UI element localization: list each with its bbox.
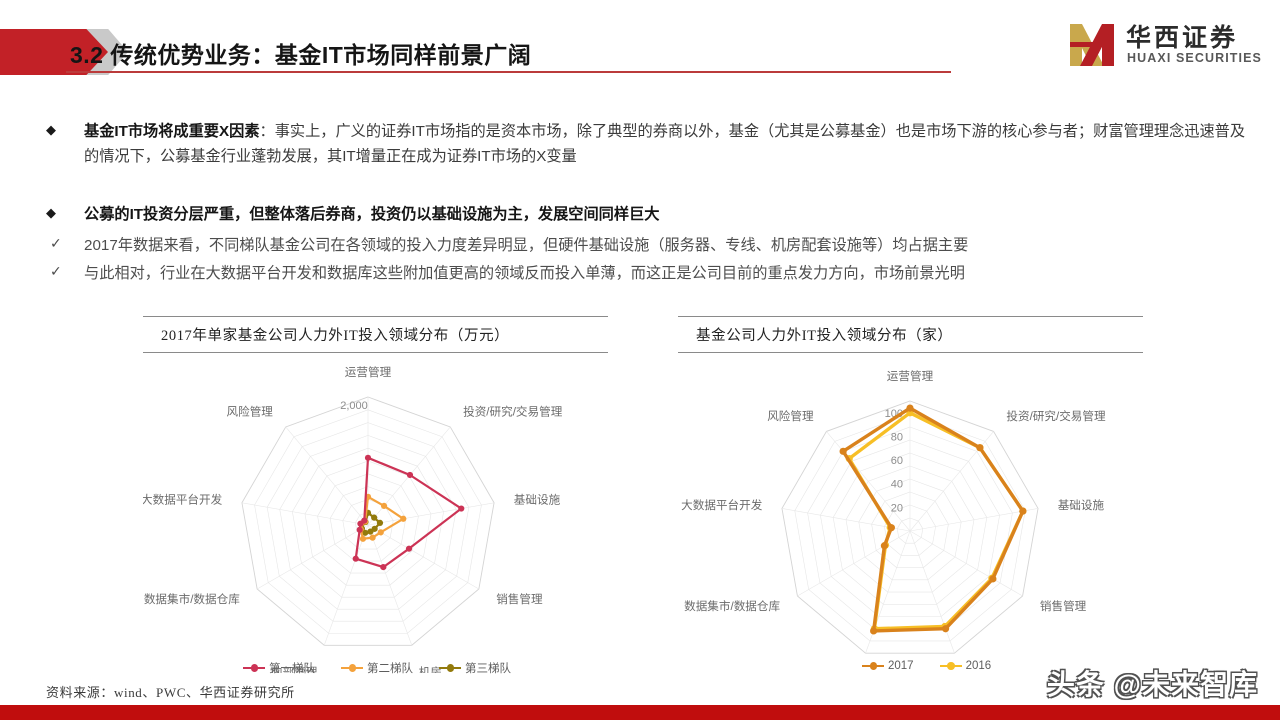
radar-data-point <box>458 505 464 511</box>
radar-data-point <box>881 542 888 549</box>
radar-tick-labels: 2,000 <box>340 400 368 412</box>
diamond-marker-icon: ◆ <box>46 121 56 139</box>
check-2-text: 与此相对，行业在大数据平台开发和数据库这些附加值更高的领域反而投入单薄，而这正是… <box>84 262 1246 286</box>
radar-axis-label: 风险管理 <box>767 409 814 423</box>
chart-panel-left: 2017年单家基金公司人力外IT投入领域分布（万元） 2,000运营管理投资/研… <box>143 316 608 673</box>
radar-axis-label: 销售管理 <box>1040 599 1087 613</box>
radar-data-point <box>888 524 895 531</box>
radar-chart-right: 20406080100运营管理投资/研究/交易管理基础设施销售管理机房内部管理数… <box>678 353 1143 673</box>
radar-series <box>846 409 1027 632</box>
radar-data-point <box>942 625 949 632</box>
chart-panel-right: 基金公司人力外IT投入领域分布（家） 20406080100运营管理投资/研究/… <box>678 316 1143 673</box>
legend-marker-icon <box>862 662 884 671</box>
legend-marker-icon <box>243 664 265 673</box>
logo-english-name: HUAXI SECURITIES <box>1127 51 1262 65</box>
legend-label: 第一梯队 <box>269 660 315 676</box>
radar-axis-label: 基础设施 <box>1058 499 1105 512</box>
radar-data-point <box>381 503 387 509</box>
bullet-block-1: ◆ 基金IT市场将成重要X因素：事实上，广义的证券IT市场指的是资本市场，除了典… <box>46 120 1246 169</box>
chart-legend-right: 20172016 <box>862 660 991 672</box>
radar-axis-label: 投资/研究/交易管理 <box>1006 409 1106 423</box>
radial-tick-max: 2,000 <box>340 400 368 412</box>
huaxi-h-mark-icon <box>1068 20 1116 70</box>
logo-chinese-name: 华西证券 <box>1126 18 1238 54</box>
radar-data-point <box>400 516 406 522</box>
bullet-1-text: 基金IT市场将成重要X因素：事实上，广义的证券IT市场指的是资本市场，除了典型的… <box>84 120 1246 169</box>
diamond-marker-icon: ◆ <box>46 204 56 222</box>
legend-label: 2017 <box>888 660 914 672</box>
radar-data-point <box>406 546 412 552</box>
radar-data-point <box>365 455 371 461</box>
chart-title-left: 2017年单家基金公司人力外IT投入领域分布（万元） <box>161 328 509 344</box>
legend-item[interactable]: 第一梯队 <box>243 660 315 676</box>
legend-marker-icon <box>341 664 363 673</box>
radar-data-point <box>870 627 877 634</box>
radar-data-point <box>989 575 996 582</box>
bullet-block-2: ◆ 公募的IT投资分层严重，但整体落后券商，投资仍以基础设施为主，发展空间同样巨… <box>46 203 1246 286</box>
legend-label: 第三梯队 <box>465 660 511 676</box>
watermark-label: 头条 @未来智库 <box>1047 663 1258 703</box>
radar-axis-label: 大数据平台开发 <box>681 498 763 512</box>
radar-plot: 2,000运营管理投资/研究/交易管理基础设施销售管理机房内部管理数据集市/数据… <box>143 353 608 673</box>
radar-data-point <box>1019 507 1026 514</box>
radar-data-point <box>367 529 373 535</box>
radar-data-point <box>353 556 359 562</box>
radar-chart-left: 2,000运营管理投资/研究/交易管理基础设施销售管理机房内部管理数据集市/数据… <box>143 353 608 673</box>
chart-title-right: 基金公司人力外IT投入领域分布（家） <box>696 328 952 344</box>
legend-item[interactable]: 第三梯队 <box>439 660 511 676</box>
radar-axis-label: 风险管理 <box>227 405 274 419</box>
bullet-1-lead: 基金IT市场将成重要X因素 <box>84 123 260 140</box>
check-row: ✓ 与此相对，行业在大数据平台开发和数据库这些附加值更高的领域反而投入单薄，而这… <box>46 262 1246 286</box>
bullet-row: ◆ 公募的IT投资分层严重，但整体落后券商，投资仍以基础设施为主，发展空间同样巨… <box>46 203 1246 228</box>
radar-data-point <box>906 404 913 411</box>
radar-axis-label: 销售管理 <box>496 592 543 606</box>
radar-data-point <box>380 564 386 570</box>
legend-label: 第二梯队 <box>367 660 413 676</box>
page-title: 3.2 传统优势业务：基金IT市场同样前景广阔 <box>70 36 531 70</box>
header-underline-rule <box>66 71 951 73</box>
check-row: ✓ 2017年数据来看，不同梯队基金公司在各领域的投入力度差异明显，但硬件基础设… <box>46 234 1246 258</box>
radar-data-point <box>361 517 367 523</box>
radar-data-point <box>370 535 376 541</box>
radar-axis-label: 运营管理 <box>345 365 392 379</box>
legend-item[interactable]: 2016 <box>940 660 992 672</box>
bullet-row: ◆ 基金IT市场将成重要X因素：事实上，广义的证券IT市场指的是资本市场，除了典… <box>46 120 1246 169</box>
radar-data-point <box>371 515 377 521</box>
radar-data-point <box>377 520 383 526</box>
legend-marker-icon <box>940 662 962 671</box>
radar-axis-label: 大数据平台开发 <box>143 492 223 506</box>
radar-axis-label: 数据集市/数据仓库 <box>684 599 780 613</box>
radar-grid <box>782 401 1038 653</box>
legend-marker-icon <box>439 664 461 673</box>
footer-red-bar <box>0 705 1280 720</box>
radar-axis-label: 投资/研究/交易管理 <box>463 405 563 419</box>
radar-data-point <box>840 448 847 455</box>
slide-canvas: 3.2 传统优势业务：基金IT市场同样前景广阔 华西证券 HUAXI SECUR… <box>0 0 1280 720</box>
radial-tick: 20 <box>891 502 903 514</box>
legend-item[interactable]: 2017 <box>862 660 914 672</box>
source-note: 资料来源：wind、PWC、华西证券研究所 <box>46 682 295 701</box>
check-1-text: 2017年数据来看，不同梯队基金公司在各领域的投入力度差异明显，但硬件基础设施（… <box>84 234 1246 258</box>
bullet-2-lead: 公募的IT投资分层严重，但整体落后券商，投资仍以基础设施为主，发展空间同样巨大 <box>84 206 659 223</box>
radar-data-point <box>378 529 384 535</box>
radar-data-point <box>357 527 363 533</box>
radar-axis-label: 数据集市/数据仓库 <box>144 592 240 606</box>
radar-axis-label: 基础设施 <box>514 493 561 506</box>
radial-tick: 40 <box>891 479 903 491</box>
radar-data-point <box>407 472 413 478</box>
check-marker-icon: ✓ <box>50 234 62 254</box>
check-marker-icon: ✓ <box>50 262 62 282</box>
legend-item[interactable]: 第二梯队 <box>341 660 413 676</box>
bullet-2-text: 公募的IT投资分层严重，但整体落后券商，投资仍以基础设施为主，发展空间同样巨大 <box>84 203 1246 228</box>
radar-plot: 20406080100运营管理投资/研究/交易管理基础设施销售管理机房内部管理数… <box>678 353 1143 673</box>
radial-tick: 60 <box>891 455 903 467</box>
radial-tick: 80 <box>891 432 903 444</box>
chart-legend-left: 第一梯队第二梯队第三梯队 <box>243 660 511 676</box>
radar-data-point <box>360 536 366 542</box>
legend-label: 2016 <box>966 660 992 672</box>
radar-data-point <box>976 444 983 451</box>
chart-title-box: 基金公司人力外IT投入领域分布（家） <box>678 316 1143 353</box>
radar-axis-label: 运营管理 <box>887 369 934 383</box>
company-logo: 华西证券 HUAXI SECURITIES <box>1068 18 1258 76</box>
chart-title-box: 2017年单家基金公司人力外IT投入领域分布（万元） <box>143 316 608 353</box>
